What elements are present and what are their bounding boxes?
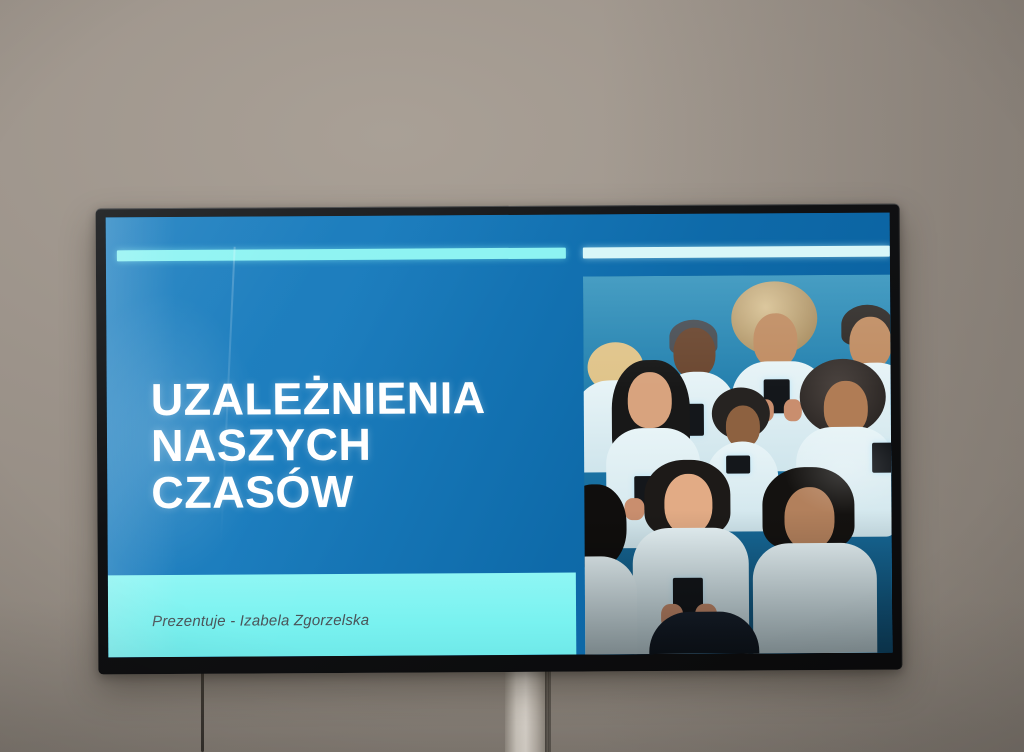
- room-scene: UZALEŻNIENIA NASZYCH CZASÓW Prezentuje -…: [0, 0, 1024, 752]
- photo-vignette-overlay: [0, 0, 1024, 752]
